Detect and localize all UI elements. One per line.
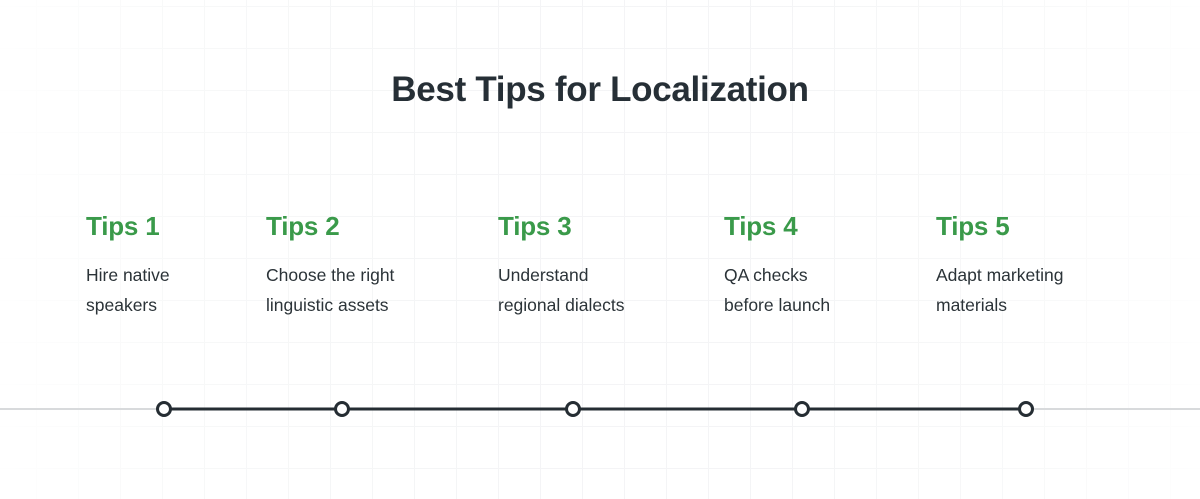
tip-description-5-line-2: materials	[936, 295, 1007, 315]
tip-description-2: Choose the right linguistic assets	[266, 260, 466, 320]
page-title: Best Tips for Localization	[0, 68, 1200, 112]
tip-description-3-line-1: Understand	[498, 265, 588, 285]
timeline-marker-3[interactable]	[567, 403, 580, 416]
tip-description-4-line-2: before launch	[724, 295, 830, 315]
tip-heading-3: Tips 3	[498, 211, 703, 241]
timeline-marker-1[interactable]	[158, 403, 171, 416]
timeline-graphic	[0, 388, 1200, 430]
tip-heading-2: Tips 2	[266, 211, 466, 241]
tip-column-1: Tips 1 Hire native speakers	[86, 211, 256, 320]
tip-description-4-line-1: QA checks	[724, 265, 808, 285]
timeline-marker-2[interactable]	[336, 403, 349, 416]
infographic-canvas: Best Tips for Localization Tips 1 Hire n…	[0, 0, 1200, 499]
tip-description-2-line-2: linguistic assets	[266, 295, 389, 315]
tip-description-1: Hire native speakers	[86, 260, 256, 320]
tip-description-1-line-2: speakers	[86, 295, 157, 315]
timeline	[0, 388, 1200, 430]
tip-description-2-line-1: Choose the right	[266, 265, 394, 285]
timeline-marker-4[interactable]	[796, 403, 809, 416]
tip-column-3: Tips 3 Understand regional dialects	[498, 211, 703, 320]
tip-description-3: Understand regional dialects	[498, 260, 703, 320]
tip-description-5-line-1: Adapt marketing	[936, 265, 1063, 285]
infographic-content: Best Tips for Localization Tips 1 Hire n…	[0, 0, 1200, 499]
tip-description-3-line-2: regional dialects	[498, 295, 624, 315]
tip-column-5: Tips 5 Adapt marketing materials	[936, 211, 1146, 320]
tip-column-4: Tips 4 QA checks before launch	[724, 211, 919, 320]
tip-description-1-line-1: Hire native	[86, 265, 170, 285]
tip-column-2: Tips 2 Choose the right linguistic asset…	[266, 211, 466, 320]
tip-heading-4: Tips 4	[724, 211, 919, 241]
tip-heading-1: Tips 1	[86, 211, 256, 241]
tip-description-4: QA checks before launch	[724, 260, 919, 320]
tips-row: Tips 1 Hire native speakers Tips 2 Choos…	[0, 211, 1200, 341]
timeline-marker-5[interactable]	[1020, 403, 1033, 416]
tip-heading-5: Tips 5	[936, 211, 1146, 241]
tip-description-5: Adapt marketing materials	[936, 260, 1146, 320]
